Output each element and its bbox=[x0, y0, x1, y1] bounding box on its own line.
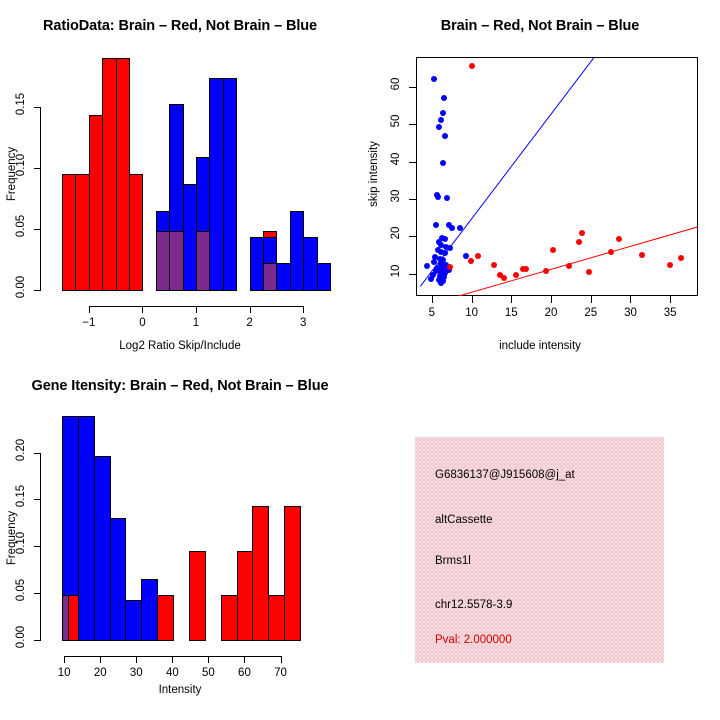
x-tick-label: 35 bbox=[654, 307, 686, 319]
histogram-bar-red bbox=[189, 551, 206, 641]
histogram-bar-blue bbox=[110, 518, 127, 641]
figure-canvas: RatioData: Brain – Red, Not Brain – Blue… bbox=[0, 0, 720, 720]
y-tick bbox=[34, 640, 41, 641]
scatter-point-blue bbox=[435, 194, 441, 200]
histogram-bar-overlap bbox=[169, 231, 183, 291]
x-tick-label: 20 bbox=[535, 307, 567, 319]
scatter-point-blue bbox=[440, 110, 446, 116]
histogram-bar-red bbox=[102, 58, 116, 291]
scatter-point-red bbox=[468, 258, 474, 264]
probe-id: G6836137@J915608@j_at bbox=[435, 469, 575, 481]
scatter-point-red bbox=[491, 262, 497, 268]
intensity-scatter-panel: Brain – Red, Not Brain – Blue skip inten… bbox=[360, 0, 720, 360]
y-tick bbox=[409, 199, 416, 200]
histogram-bar-red bbox=[116, 58, 130, 291]
scatter-point-red bbox=[550, 247, 556, 253]
scatter-point-red bbox=[543, 268, 549, 274]
scatter-point-blue bbox=[440, 160, 446, 166]
x-tick bbox=[511, 296, 512, 303]
x-tick-label: 0 bbox=[126, 317, 158, 329]
histogram-bar-red bbox=[221, 595, 238, 641]
x-tick-label: 70 bbox=[265, 667, 297, 679]
y-tick bbox=[409, 162, 416, 163]
histogram-bar-blue bbox=[223, 78, 237, 291]
histogram-bar-red bbox=[252, 506, 269, 641]
histogram-bar-blue bbox=[303, 237, 317, 291]
scatter-point-red bbox=[576, 239, 582, 245]
scatter-point-red bbox=[616, 236, 622, 242]
x-tick bbox=[142, 306, 143, 313]
x-tick-label: 10 bbox=[48, 667, 80, 679]
x-tick bbox=[303, 306, 304, 313]
scatter-point-blue bbox=[449, 225, 455, 231]
y-tick bbox=[34, 453, 41, 454]
histogram-bar-blue bbox=[209, 78, 223, 291]
gene-symbol: Brms1l bbox=[435, 555, 471, 567]
y-tick-label: 0.15 bbox=[15, 477, 27, 515]
plot-area: 0.000.050.100.15−10123 bbox=[0, 0, 360, 360]
x-tick-label: 30 bbox=[120, 667, 152, 679]
x-tick-label: 5 bbox=[416, 307, 448, 319]
scatter-point-blue bbox=[441, 95, 447, 101]
histogram-bar-blue bbox=[276, 263, 290, 291]
histogram-bar-overlap bbox=[263, 263, 277, 291]
x-tick-label: 40 bbox=[156, 667, 188, 679]
y-tick bbox=[34, 593, 41, 594]
y-tick bbox=[34, 168, 41, 169]
scatter-point-blue bbox=[424, 263, 430, 269]
histogram-bar-red bbox=[284, 506, 301, 641]
plot-area: 0.000.050.100.150.2010203040506070 bbox=[0, 360, 360, 720]
x-tick bbox=[172, 656, 173, 663]
scatter-point-red bbox=[501, 275, 507, 281]
y-tick-label: 0.15 bbox=[15, 85, 27, 123]
x-tick-label: 50 bbox=[192, 667, 224, 679]
x-tick bbox=[136, 656, 137, 663]
histogram-bar-blue bbox=[141, 579, 158, 641]
histogram-bar-red bbox=[89, 115, 103, 291]
histogram-bar-red bbox=[157, 595, 174, 641]
histogram-bar-red bbox=[75, 174, 89, 291]
y-tick-label: 30 bbox=[390, 178, 402, 214]
gene-intensity-histogram-panel: Gene Itensity: Brain – Red, Not Brain – … bbox=[0, 360, 360, 720]
y-tick bbox=[34, 107, 41, 108]
scatter-point-red bbox=[566, 263, 572, 269]
histogram-bar-overlap bbox=[156, 231, 170, 291]
event-type: altCassette bbox=[435, 514, 493, 526]
scatter-point-blue bbox=[431, 76, 437, 82]
y-tick bbox=[34, 290, 41, 291]
scatter-clip bbox=[417, 58, 698, 296]
y-tick bbox=[409, 87, 416, 88]
histogram-bar-blue bbox=[94, 456, 111, 641]
ratio-histogram-panel: RatioData: Brain – Red, Not Brain – Blue… bbox=[0, 0, 360, 360]
histogram-bar-overlap bbox=[62, 595, 69, 641]
scatter-point-red bbox=[678, 255, 684, 261]
x-tick bbox=[196, 306, 197, 313]
x-tick bbox=[432, 296, 433, 303]
x-tick bbox=[244, 656, 245, 663]
scatter-point-blue bbox=[438, 280, 444, 286]
x-tick-label: 10 bbox=[456, 307, 488, 319]
histogram-bar-red bbox=[237, 551, 254, 641]
x-tick bbox=[591, 296, 592, 303]
y-axis-line bbox=[40, 107, 41, 291]
scatter-point-red bbox=[608, 249, 614, 255]
plot-area: 1020304050605101520253035 bbox=[360, 0, 720, 360]
histogram-bar-blue bbox=[78, 416, 95, 641]
scatter-point-blue bbox=[457, 225, 463, 231]
x-tick-label: 2 bbox=[234, 317, 266, 329]
x-tick bbox=[64, 656, 65, 663]
scatter-point-red bbox=[469, 63, 475, 69]
y-tick-label: 0.10 bbox=[15, 146, 27, 184]
y-tick bbox=[409, 124, 416, 125]
y-tick bbox=[409, 236, 416, 237]
y-tick-label: 0.05 bbox=[15, 571, 27, 609]
y-tick-label: 0.10 bbox=[15, 524, 27, 562]
histogram-bar-blue bbox=[317, 263, 331, 291]
x-tick bbox=[472, 296, 473, 303]
histogram-bar-blue bbox=[290, 211, 304, 291]
histogram-bar-red bbox=[268, 595, 285, 641]
pvalue: Pval: 2.000000 bbox=[435, 634, 512, 646]
y-tick-label: 60 bbox=[390, 66, 402, 102]
scatter-point-blue bbox=[442, 133, 448, 139]
x-tick bbox=[208, 656, 209, 663]
x-tick bbox=[250, 306, 251, 313]
x-tick bbox=[89, 306, 90, 313]
scatter-point-red bbox=[475, 253, 481, 259]
x-tick-label: 20 bbox=[84, 667, 116, 679]
histogram-bar-red bbox=[129, 174, 143, 291]
scatter-point-red bbox=[579, 230, 585, 236]
y-tick-label: 0.00 bbox=[15, 618, 27, 656]
y-tick-label: 0.20 bbox=[15, 431, 27, 469]
x-tick-label: 30 bbox=[614, 307, 646, 319]
x-tick bbox=[281, 656, 282, 663]
scatter-point-red bbox=[667, 262, 673, 268]
scatter-point-red bbox=[639, 252, 645, 258]
fit-line-red-fit bbox=[457, 226, 699, 296]
y-tick-label: 0.05 bbox=[15, 207, 27, 245]
scatter-point-blue bbox=[447, 245, 453, 251]
y-tick-label: 50 bbox=[390, 103, 402, 139]
x-tick-label: 15 bbox=[495, 307, 527, 319]
x-tick-label: 60 bbox=[228, 667, 260, 679]
x-tick-label: 25 bbox=[575, 307, 607, 319]
x-tick bbox=[670, 296, 671, 303]
histogram-bar-blue bbox=[250, 237, 264, 291]
scatter-point-blue bbox=[442, 236, 448, 242]
x-tick-label: 1 bbox=[180, 317, 212, 329]
scatter-point-red bbox=[447, 264, 453, 270]
histogram-bar-blue bbox=[125, 600, 142, 641]
histogram-bar-red bbox=[62, 174, 76, 291]
histogram-bar-overlap bbox=[196, 231, 210, 291]
gene-info-panel: G6836137@J915608@j_at altCassette Brms1l… bbox=[415, 437, 664, 663]
x-tick-label: 3 bbox=[287, 317, 319, 329]
y-tick bbox=[34, 229, 41, 230]
y-tick-label: 20 bbox=[390, 215, 402, 251]
y-tick-label: 10 bbox=[390, 253, 402, 289]
scatter-point-red bbox=[523, 266, 529, 272]
y-tick bbox=[34, 546, 41, 547]
x-tick-label: −1 bbox=[73, 317, 105, 329]
x-tick bbox=[100, 656, 101, 663]
y-tick-label: 0.00 bbox=[15, 268, 27, 306]
scatter-point-blue bbox=[436, 124, 442, 130]
x-tick bbox=[630, 296, 631, 303]
scatter-point-red bbox=[586, 269, 592, 275]
scatter-point-blue bbox=[444, 195, 450, 201]
x-tick bbox=[551, 296, 552, 303]
scatter-point-blue bbox=[428, 276, 434, 282]
scatter-point-blue bbox=[442, 250, 448, 256]
y-tick bbox=[34, 499, 41, 500]
y-tick-label: 40 bbox=[390, 141, 402, 177]
scatter-point-blue bbox=[438, 117, 444, 123]
y-tick bbox=[409, 274, 416, 275]
genomic-location: chr12.5578-3.9 bbox=[435, 599, 512, 611]
scatter-point-blue bbox=[433, 222, 439, 228]
histogram-bar-blue bbox=[183, 184, 197, 291]
